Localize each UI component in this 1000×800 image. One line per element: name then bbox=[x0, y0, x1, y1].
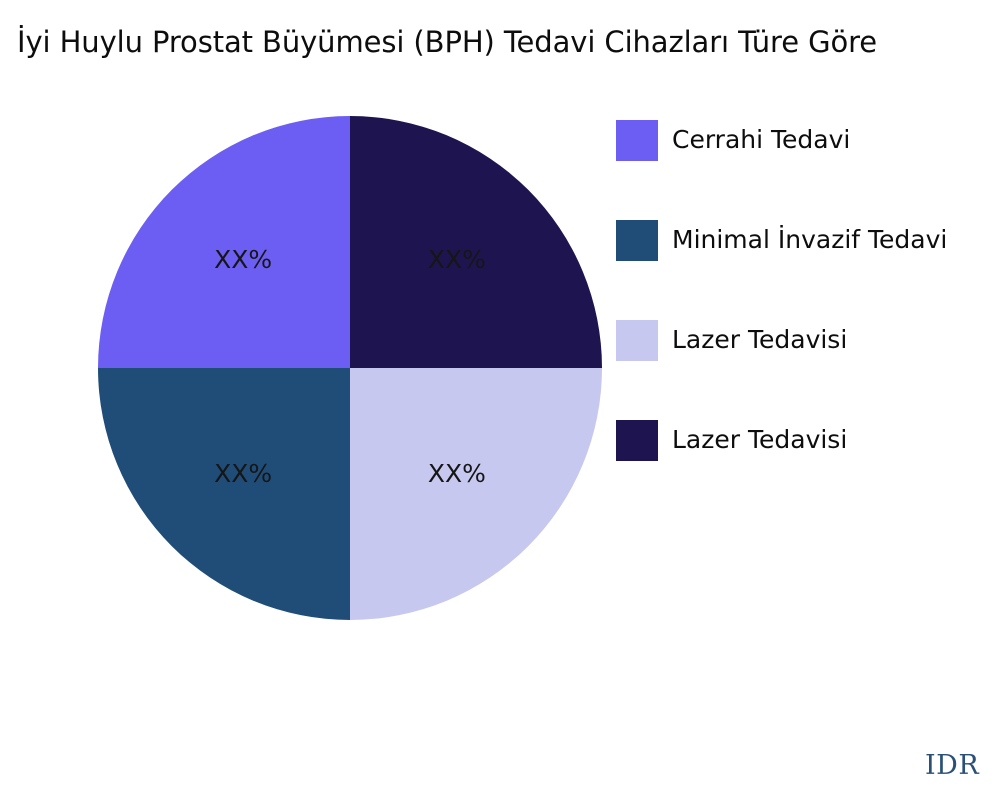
legend-item-label: Cerrahi Tedavi bbox=[672, 118, 1000, 162]
pie-slice-lazer-tedavisi-light[interactable] bbox=[350, 368, 602, 620]
legend-item-lazer-tedavisi-light[interactable]: Lazer Tedavisi bbox=[616, 318, 1000, 418]
legend-swatch-icon bbox=[616, 320, 658, 361]
legend-item-minimal-invazif-tedavi[interactable]: Minimal İnvazif Tedavi bbox=[616, 218, 1000, 318]
pie-slice-label: XX% bbox=[214, 245, 272, 274]
legend-item-lazer-tedavisi-dark[interactable]: Lazer Tedavisi bbox=[616, 418, 1000, 518]
watermark: IDR bbox=[925, 750, 979, 781]
chart-canvas: İyi Huylu Prostat Büyümesi (BPH) Tedavi … bbox=[0, 0, 1000, 800]
legend-item-cerrahi-tedavi[interactable]: Cerrahi Tedavi bbox=[616, 118, 1000, 218]
pie-slice-minimal-invazif-tedavi[interactable] bbox=[98, 368, 350, 620]
legend-swatch-icon bbox=[616, 220, 658, 261]
pie-slices bbox=[98, 116, 602, 620]
pie-slice-lazer-tedavisi-dark[interactable] bbox=[350, 116, 602, 368]
pie-svg: XX% XX% XX% XX% bbox=[98, 116, 602, 620]
pie-chart: XX% XX% XX% XX% bbox=[98, 116, 602, 620]
pie-slice-cerrahi-tedavi[interactable] bbox=[98, 116, 350, 368]
legend-swatch-icon bbox=[616, 420, 658, 461]
legend-item-label: Minimal İnvazif Tedavi bbox=[672, 218, 1000, 262]
pie-slice-label: XX% bbox=[214, 459, 272, 488]
pie-slice-label: XX% bbox=[428, 459, 486, 488]
legend-item-label: Lazer Tedavisi bbox=[672, 318, 1000, 362]
pie-slice-label: XX% bbox=[428, 245, 486, 274]
chart-legend: Cerrahi Tedavi Minimal İnvazif Tedavi La… bbox=[616, 118, 1000, 518]
legend-swatch-icon bbox=[616, 120, 658, 161]
page-title: İyi Huylu Prostat Büyümesi (BPH) Tedavi … bbox=[17, 22, 1000, 62]
legend-item-label: Lazer Tedavisi bbox=[672, 418, 1000, 462]
